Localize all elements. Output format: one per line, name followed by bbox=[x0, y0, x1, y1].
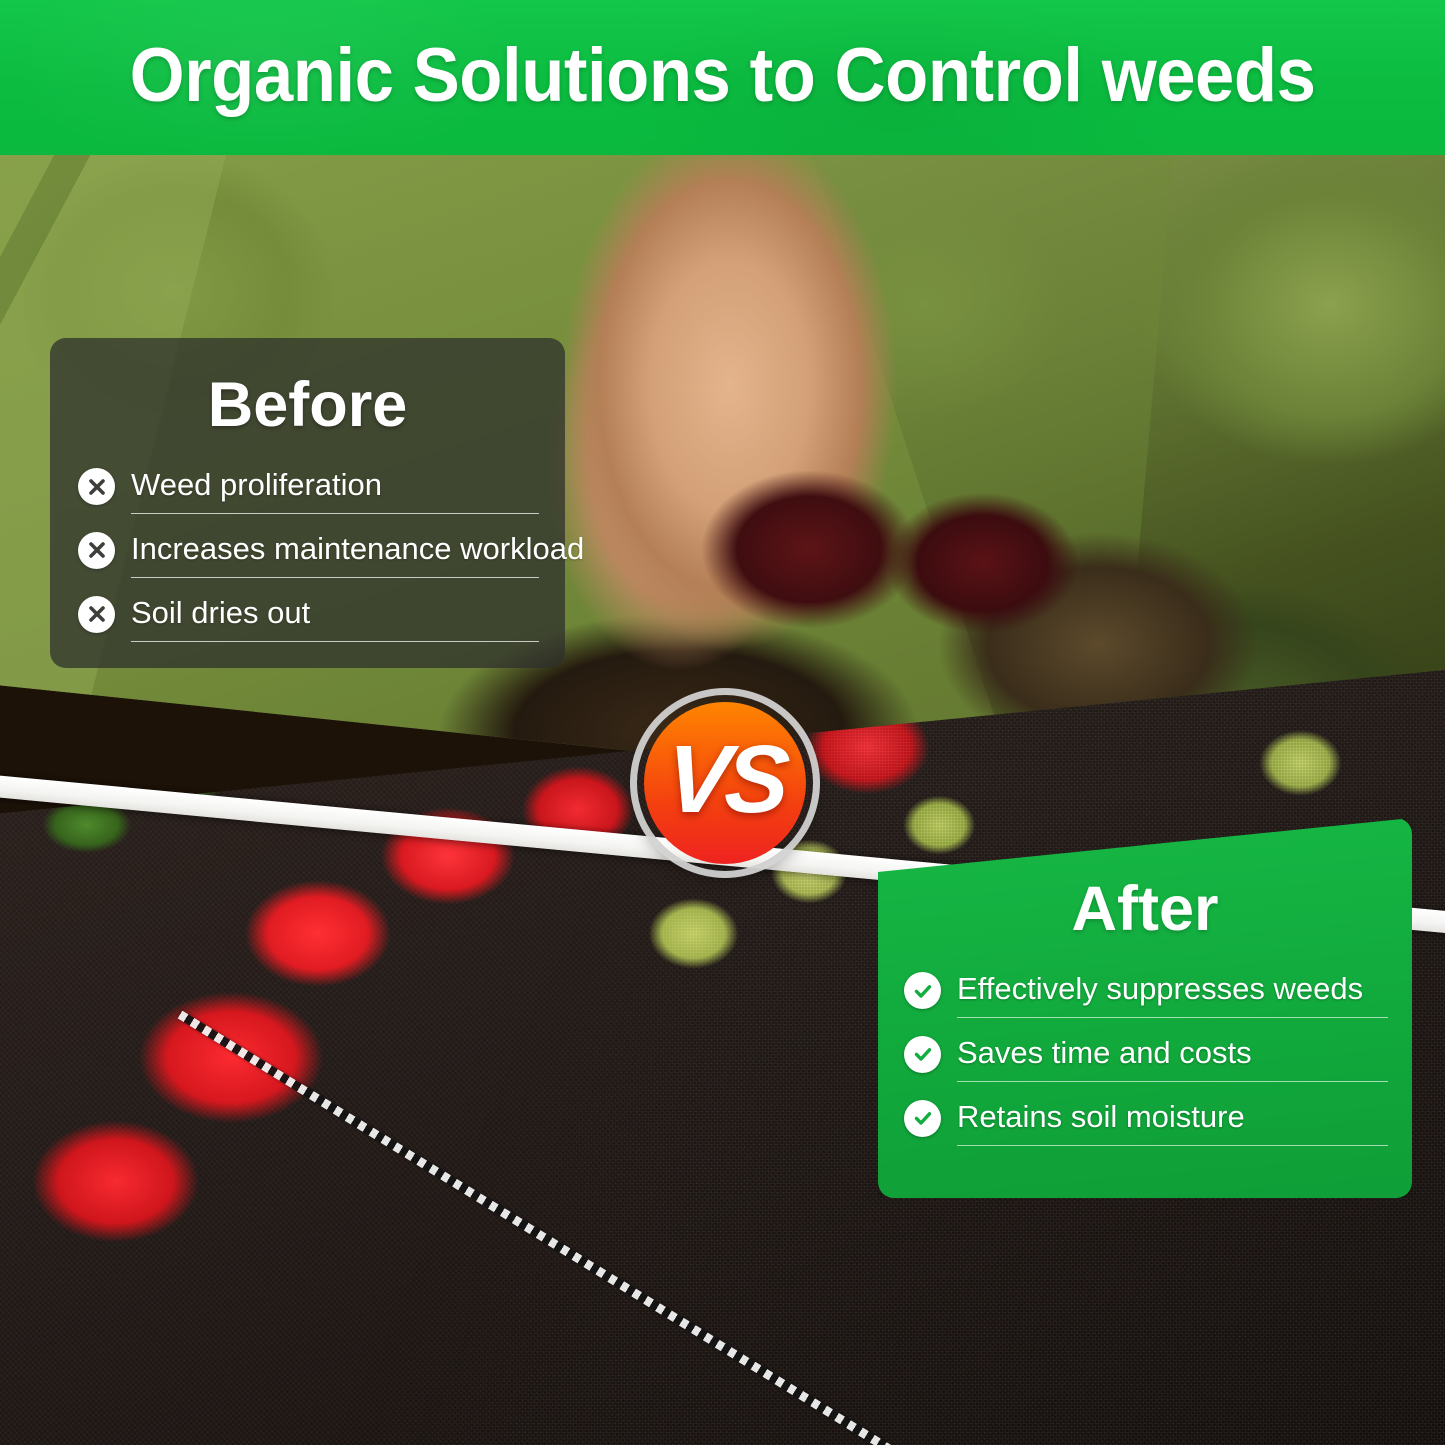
list-item-label: Saves time and costs bbox=[957, 1035, 1388, 1071]
list-item-body: Retains soil moisture bbox=[957, 1099, 1388, 1163]
list-item-body: Weed proliferation bbox=[131, 467, 539, 531]
check-circle-icon bbox=[904, 972, 941, 1009]
list-item-rule bbox=[957, 1145, 1388, 1146]
after-feature-list: Effectively suppresses weeds Saves time … bbox=[902, 971, 1388, 1163]
list-item-body: Soil dries out bbox=[131, 595, 539, 659]
list-item-rule bbox=[957, 1017, 1388, 1018]
list-item-label: Retains soil moisture bbox=[957, 1099, 1388, 1135]
poster-root: Organic Solutions to Control weeds Befor… bbox=[0, 0, 1445, 1445]
list-item-label: Effectively suppresses weeds bbox=[957, 971, 1388, 1007]
list-item: Retains soil moisture bbox=[902, 1099, 1388, 1163]
list-item: Increases maintenance workload bbox=[76, 531, 539, 595]
before-panel: Before Weed proliferation bbox=[50, 338, 565, 668]
check-circle-icon bbox=[904, 1100, 941, 1137]
after-panel: After Effectively suppresses weeds bbox=[878, 818, 1412, 1198]
list-item: Soil dries out bbox=[76, 595, 539, 659]
before-panel-title: Before bbox=[76, 374, 539, 437]
list-item-rule bbox=[131, 513, 539, 514]
header-banner: Organic Solutions to Control weeds bbox=[0, 0, 1445, 155]
list-item-body: Effectively suppresses weeds bbox=[957, 971, 1388, 1035]
list-item: Weed proliferation bbox=[76, 467, 539, 531]
before-feature-list: Weed proliferation Increases maintenance… bbox=[76, 467, 539, 659]
check-circle-icon bbox=[904, 1036, 941, 1073]
list-item: Saves time and costs bbox=[902, 1035, 1388, 1099]
list-item-rule bbox=[957, 1081, 1388, 1082]
cross-circle-icon bbox=[78, 532, 115, 569]
list-item-label: Soil dries out bbox=[131, 595, 539, 631]
list-item-rule bbox=[131, 577, 539, 578]
list-item: Effectively suppresses weeds bbox=[902, 971, 1388, 1035]
list-item-body: Saves time and costs bbox=[957, 1035, 1388, 1099]
list-item-body: Increases maintenance workload bbox=[131, 531, 539, 595]
vs-badge: VS bbox=[637, 695, 813, 871]
list-item-label: Increases maintenance workload bbox=[131, 531, 539, 567]
page-title: Organic Solutions to Control weeds bbox=[130, 38, 1316, 118]
after-panel-title: After bbox=[902, 878, 1388, 941]
cross-circle-icon bbox=[78, 468, 115, 505]
cross-circle-icon bbox=[78, 596, 115, 633]
vs-badge-label: VS bbox=[662, 732, 787, 834]
list-item-rule bbox=[131, 641, 539, 642]
list-item-label: Weed proliferation bbox=[131, 467, 539, 503]
